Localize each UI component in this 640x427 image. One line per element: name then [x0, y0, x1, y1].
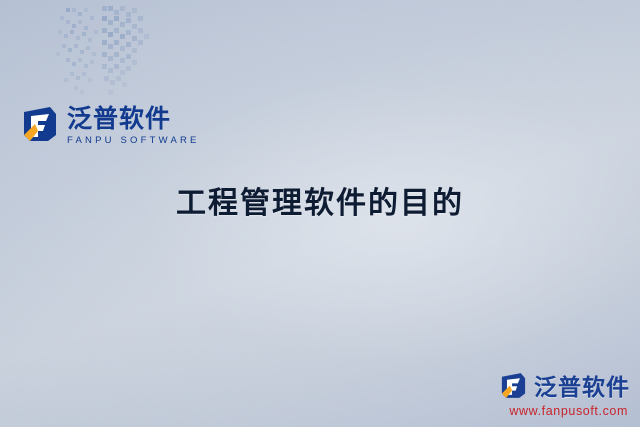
- watermark-url: www.fanpusoft.com: [509, 404, 628, 418]
- pixel-mosaic-decoration-icon: [50, 6, 166, 98]
- brand-logo: 泛普软件 FANPU SOFTWARE: [20, 104, 200, 146]
- fanpu-watermark-icon: [499, 371, 528, 400]
- slide-canvas: 泛普软件 FANPU SOFTWARE 工程管理软件的目的 泛普软件 www.f…: [0, 0, 640, 427]
- fanpu-logo-icon: [20, 104, 60, 144]
- brand-name-cn: 泛普软件: [67, 106, 200, 132]
- page-title: 工程管理软件的目的: [0, 178, 640, 222]
- brand-name-en: FANPU SOFTWARE: [67, 135, 200, 146]
- watermark-name-cn: 泛普软件: [534, 368, 630, 402]
- watermark-brand-row: 泛普软件: [499, 368, 630, 402]
- brand-text: 泛普软件 FANPU SOFTWARE: [67, 104, 200, 146]
- watermark: 泛普软件 www.fanpusoft.com: [499, 368, 630, 418]
